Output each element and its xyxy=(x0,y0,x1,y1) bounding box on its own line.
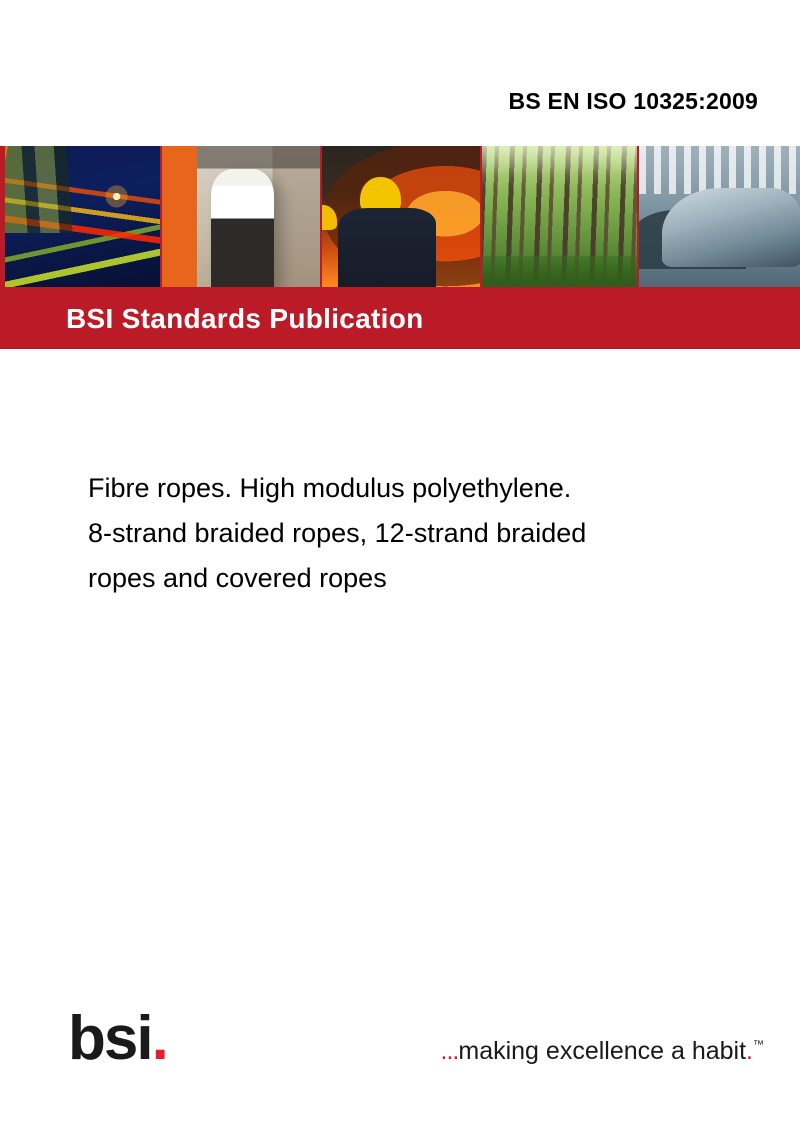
bsi-logo-dot: . xyxy=(152,1004,167,1073)
photo-strip xyxy=(5,146,800,287)
page-title-line: Fibre ropes. High modulus polyethylene. xyxy=(88,466,728,511)
photo-car-production-line xyxy=(639,146,800,287)
tagline: ...making excellence a habit.™ xyxy=(441,1039,764,1064)
page-title-line: 8-strand braided ropes, 12-strand braide… xyxy=(88,511,728,556)
bsi-logo-text: bsi xyxy=(68,1004,152,1073)
tagline-dot: . xyxy=(746,1037,753,1065)
masthead: BSI Standards Publication xyxy=(0,146,800,349)
standard-reference-number: BS EN ISO 10325:2009 xyxy=(509,88,758,115)
tagline-text: making excellence a habit xyxy=(458,1037,746,1065)
banner: BSI Standards Publication xyxy=(0,289,800,349)
photo-firefighters xyxy=(322,146,480,287)
photo-forest xyxy=(482,146,637,287)
photo-warehouse-worker xyxy=(162,146,320,287)
trademark-icon: ™ xyxy=(753,1039,764,1051)
bsi-logo: bsi. xyxy=(68,1008,167,1070)
page-title-line: ropes and covered ropes xyxy=(88,556,728,601)
banner-title: BSI Standards Publication xyxy=(66,303,424,335)
photo-night-traffic-light-trails xyxy=(5,146,160,287)
tagline-ellipsis: ... xyxy=(441,1037,459,1065)
page-title: Fibre ropes. High modulus polyethylene. … xyxy=(88,466,728,601)
